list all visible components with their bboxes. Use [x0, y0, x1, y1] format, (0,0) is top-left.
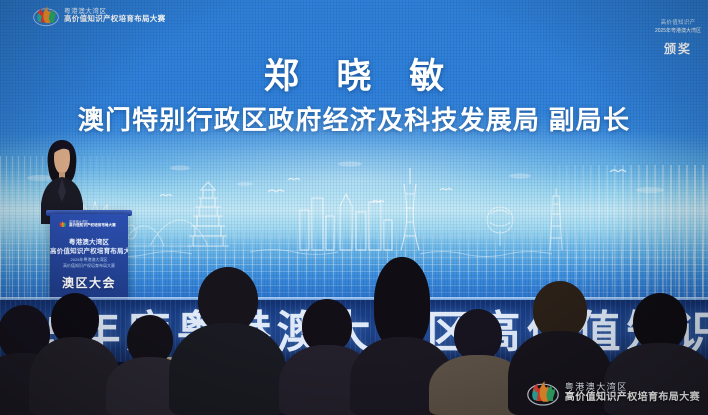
podium-sign-line2: 高价值知识产权培育布局大赛 [50, 245, 128, 255]
side-panel-line3: 颁奖 [648, 40, 708, 57]
watermark-line1: 粤港澳大湾区 [565, 382, 700, 393]
body [0, 353, 71, 415]
body [106, 357, 194, 415]
secondary-screen-panel: 高价值知识产 2025年粤港澳大湾区 颁奖 [648, 18, 708, 80]
podium-headline: 澳区大会 [50, 274, 128, 291]
event-logo-top-left: 粤港澳大湾区 高价值知识产权培育布局大赛 [33, 3, 165, 29]
flame-logo-icon [33, 3, 59, 29]
conference-photo: 郑 晓 敏 澳门特别行政区政府经济及科技发展局 副局长 粤港澳大湾区 高价值知识… [0, 0, 708, 415]
stage-front-text: 5年度粤港澳大湾区高价值知识 [46, 300, 708, 360]
podium-sub-line2: 高价值知识产权培育布局大赛 [50, 263, 128, 269]
side-panel-line1: 高价值知识产 [648, 18, 708, 26]
podium-logo-line2: 高价值知识产权培育布局大赛 [69, 224, 116, 228]
watermark-line2: 高价值知识产权培育布局大赛 [565, 392, 700, 404]
body [429, 355, 527, 415]
chair-back [330, 375, 416, 415]
side-panel-line2: 2025年粤港澳大湾区 [648, 27, 708, 34]
podium-area: 粤港澳大湾区 高价值知识产权培育布局大赛 粤港澳大湾区 高价值知识产权培育布局大… [22, 132, 132, 312]
flame-logo-icon [58, 220, 67, 229]
podium-logo: 粤港澳大湾区 高价值知识产权培育布局大赛 [58, 220, 116, 229]
event-logo-line2: 高价值知识产权培育布局大赛 [64, 15, 165, 23]
stage-front-panel: 5年度粤港澳大湾区高价值知识 [0, 300, 708, 362]
chair-back [152, 357, 244, 415]
flame-logo-icon [527, 377, 559, 409]
speaker-name: 郑 晓 敏 [0, 48, 708, 99]
watermark-bottom-right: 粤港澳大湾区 高价值知识产权培育布局大赛 [527, 377, 700, 409]
